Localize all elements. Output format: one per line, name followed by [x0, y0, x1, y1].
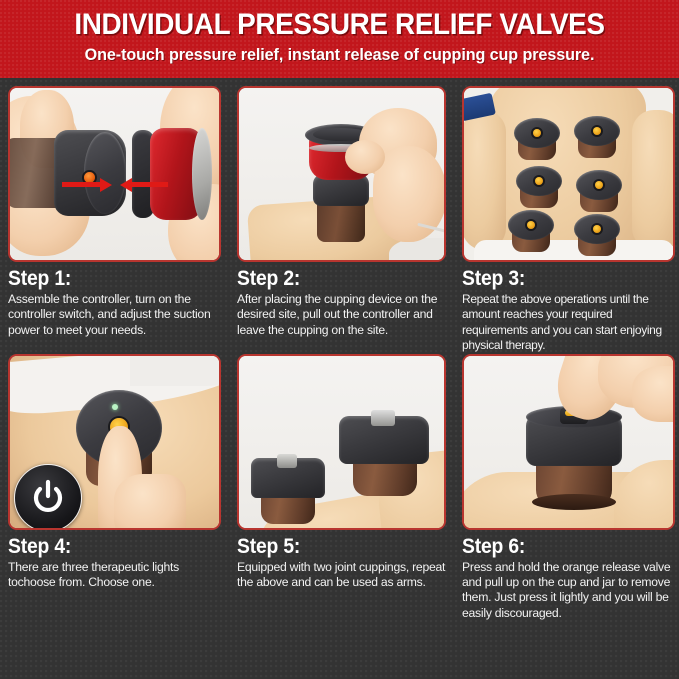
- page-subtitle: One-touch pressure relief, instant relea…: [17, 43, 662, 67]
- step-2-heading: Step 2:: [237, 266, 429, 291]
- step-1-heading: Step 1:: [8, 266, 204, 291]
- step-card-4: Step 4: There are three therapeutic ligh…: [2, 354, 227, 622]
- step-5-image: [237, 354, 446, 530]
- step-4-heading: Step 4:: [8, 534, 204, 559]
- step-6-body: Press and hold the orange release valve …: [462, 560, 675, 622]
- step-3-heading: Step 3:: [462, 266, 658, 291]
- step-card-5: Step 5: Equipped with two joint cuppings…: [231, 354, 452, 622]
- step-card-1: Step 1: Assemble the controller, turn on…: [2, 86, 227, 354]
- step-card-3: Step 3: Repeat the above operations unti…: [456, 86, 679, 354]
- step-4-image: [8, 354, 221, 530]
- step-6-image: [462, 354, 675, 530]
- power-icon: [28, 478, 68, 518]
- step-2-body: After placing the cupping device on the …: [237, 292, 446, 338]
- step-1-image: [8, 86, 221, 262]
- step-card-6: Step 6: Press and hold the orange releas…: [456, 354, 679, 622]
- step-3-body: Repeat the above operations until the am…: [462, 292, 675, 354]
- steps-grid: Step 1: Assemble the controller, turn on…: [0, 86, 679, 621]
- header-banner: INDIVIDUAL PRESSURE RELIEF VALVES One-to…: [0, 0, 679, 78]
- step-2-image: [237, 86, 446, 262]
- step-6-heading: Step 6:: [462, 534, 658, 559]
- step-3-image: [462, 86, 675, 262]
- step-4-body: There are three therapeutic lights tocho…: [8, 560, 221, 591]
- step-1-body: Assemble the controller, turn on the con…: [8, 292, 221, 338]
- step-card-2: Step 2: After placing the cupping device…: [231, 86, 452, 354]
- infographic-page: INDIVIDUAL PRESSURE RELIEF VALVES One-to…: [0, 0, 679, 679]
- step-5-heading: Step 5:: [237, 534, 429, 559]
- page-title: INDIVIDUAL PRESSURE RELIEF VALVES: [24, 7, 655, 43]
- step-5-body: Equipped with two joint cuppings, repeat…: [237, 560, 446, 591]
